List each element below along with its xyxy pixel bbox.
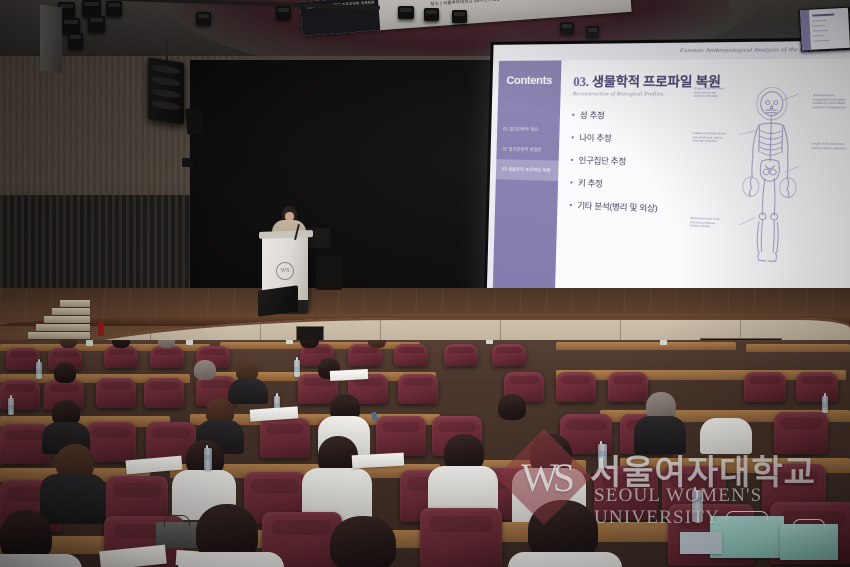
desk-microphone [286,340,293,344]
handout-paper [330,369,368,381]
slide-contents-sidebar: Contents 01 법의인류학 개요 02 법의인류학 방법론 03 생물학… [492,60,561,307]
contents-heading: Contents [506,75,552,87]
slide-body: Contents 01 법의인류학 개요 02 법의인류학 방법론 03 생물학… [492,58,850,327]
stage-light [276,6,291,19]
podium-university-emblem: WS [276,262,294,280]
confidence-monitor [799,7,850,52]
water-bottle [294,360,300,377]
attendee-head [368,340,386,348]
seat [86,422,136,462]
handout-paper [352,453,405,469]
seat [444,344,478,366]
contents-item-02: 02 법의인류학 방법론 [496,139,559,160]
seat [398,374,438,404]
skeleton-icon [731,87,809,284]
seat [0,380,40,410]
stage-light [82,0,101,17]
bullet-text: 키 추정 [578,178,603,190]
stage-light [88,16,105,32]
confidence-monitor-screen [800,8,850,50]
banner-venue-label: 장소 | 서울여자대학교 50주년기념관 국제회의장 [430,0,523,7]
attendee-torso [40,474,106,524]
water-bottle [598,444,607,468]
seat [608,372,648,402]
stage-light [106,1,122,16]
seat [492,344,526,366]
slide-bullet: 키 추정 [570,177,708,193]
attendee-head [330,516,396,567]
seat [594,466,658,520]
seat [260,418,310,458]
slide-main-column: 03. 생물학적 프로파일 복원 Reconstruction of Biolo… [555,58,850,327]
desk-microphone [186,340,193,345]
figure-note: Features of cranial sutures and dental w… [692,132,726,144]
water-bottle [692,490,703,522]
stage-equipment-case [316,256,342,290]
seat [774,412,828,454]
side-fill-speaker [185,107,204,135]
desk [556,342,736,350]
desk [746,344,850,352]
confidence-monitor-label: 확인용 모니터 [800,50,817,54]
podium-top [259,230,313,239]
contents-item-03: 03 생물학적 프로파일 복원 [496,159,559,181]
mint-conference-bag [780,524,838,560]
handout-paper [680,532,722,554]
water-bottle [204,448,212,470]
stage-light [196,12,211,25]
slide-bullet: 인구집단 추정 [571,155,709,170]
attendee-head [60,340,77,348]
seat [556,372,596,402]
figure-note: Shape of skull and facial bones for sex … [694,87,728,99]
line-array-speaker [148,57,184,125]
attendee-torso [634,416,686,454]
attendee-torso [228,378,268,404]
seat [6,348,40,370]
stage-light [398,6,414,19]
seat [420,508,502,567]
seat [744,372,786,402]
attendee-torso [508,552,622,567]
attendee-torso [178,552,284,567]
attendee-head [158,340,175,348]
figure-note: Epiphyseal fusion of the limb bones indi… [690,217,724,230]
attendee-head [194,360,216,380]
wall-camera [182,158,193,167]
auditorium-photo: 2025 서울여자대학교 인문자연학 국제회의 장소 | 서울여자대학교 50주… [0,0,850,567]
bullet-text: 기타 분석(병리 및 외상) [577,200,657,214]
contents-item-01: 01 법의인류학 개요 [497,119,560,140]
attendee-torso [700,418,752,454]
figure-note: Dimensions and morphology of the pelvis … [813,94,849,110]
seat [394,344,428,366]
contents-list: 01 법의인류학 개요 02 법의인류학 방법론 03 생물학적 프로파일 복원 [496,119,560,181]
seat [796,372,838,402]
bullet-dot-icon [571,159,574,162]
seat [376,416,426,456]
water-bottle [822,396,828,413]
slide-bullet: 성 추정 [572,110,710,123]
figure-note: Length of the long bones used for statur… [811,142,847,151]
stage-light [62,18,80,34]
water-bottle [8,398,14,415]
audience-seating-area [0,340,850,567]
slide-bullet-list: 성 추정 나이 추정 인구집단 추정 키 추정 기타 분석(병리 및 외상) [570,110,710,217]
mini-slide-body [809,8,850,50]
skeleton-diagram: Shape of skull and facial bones for sex … [688,83,850,292]
attendee-head [54,362,76,383]
bullet-text: 성 추정 [580,110,605,122]
bullet-dot-icon [572,114,575,116]
desk-microphone [86,340,93,346]
seat [104,346,138,368]
bullet-dot-icon [570,204,573,207]
attendee-head [498,394,526,420]
seat [144,378,184,408]
slide-section-number: 03. [573,75,589,89]
slide-bullet: 나이 추정 [572,132,710,146]
desk-microphone [660,340,667,345]
bullet-text: 나이 추정 [579,132,611,144]
bullet-text: 인구집단 추정 [579,155,627,167]
bullet-dot-icon [570,181,573,184]
slide-bullet: 기타 분석(병리 및 외상) [570,200,708,216]
fire-extinguisher [98,322,104,336]
stage-light [68,33,83,49]
stage-light [586,26,599,38]
attendee-head [112,340,130,348]
attendee-torso [0,554,82,567]
podium-side-desk [40,5,62,74]
water-bottle [36,362,42,379]
desk-microphone [486,340,493,344]
stage-light [424,8,439,21]
bullet-dot-icon [572,136,575,138]
seat [96,378,136,408]
stage-light [452,10,467,23]
stage-light [560,22,574,34]
seat [150,346,184,368]
